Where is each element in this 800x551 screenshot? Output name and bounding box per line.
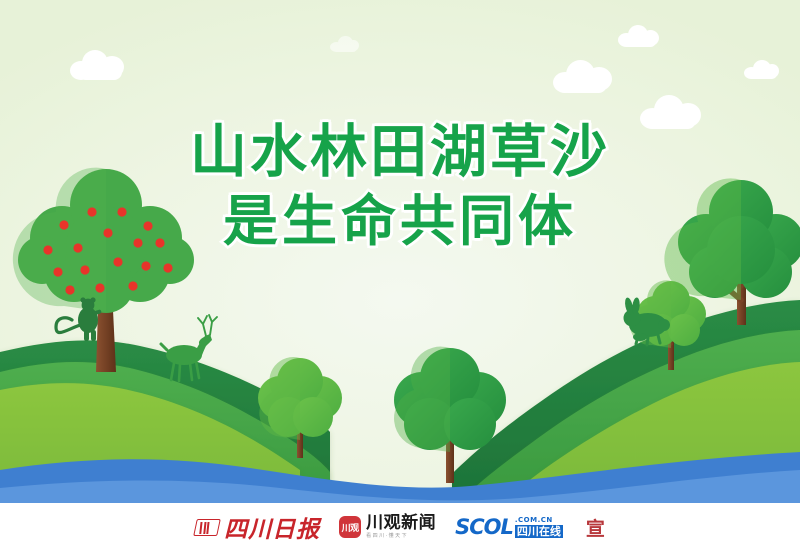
chuanguan-text-block: 川观新闻 看四川·懂天下: [366, 515, 436, 539]
seal-icon: [193, 519, 221, 536]
xuan-suffix: 宣: [586, 514, 605, 541]
landscape-illustration: [0, 0, 800, 505]
footer-logo-bar: 四川日报 川观 川观新闻 看四川·懂天下 SCOL .COM.CN 四川在线 宣: [0, 503, 800, 551]
chuanguan-news-name: 川观新闻: [366, 515, 436, 532]
scol-domain: .COM.CN: [515, 517, 563, 524]
tree-apple-left: [13, 168, 194, 372]
logo-sichuan-daily: 四川日报: [195, 510, 320, 544]
logo-scol: SCOL .COM.CN 四川在线: [455, 515, 563, 539]
chuanguan-news-subtitle: 看四川·懂天下: [366, 534, 436, 539]
poster-canvas: 山水林田湖草沙 是生命共同体 四川日报 川观 川观新闻 看四川·懂天下 SCOL…: [0, 0, 800, 551]
logo-chuanguan-news: 川观 川观新闻 看四川·懂天下: [339, 515, 436, 539]
scol-wordmark: SCOL: [455, 515, 513, 539]
scol-text-block: .COM.CN 四川在线: [515, 517, 563, 538]
sichuan-daily-name: 四川日报: [224, 510, 320, 544]
scol-chinese-name: 四川在线: [515, 525, 563, 538]
chuanguan-app-icon: 川观: [339, 516, 361, 538]
